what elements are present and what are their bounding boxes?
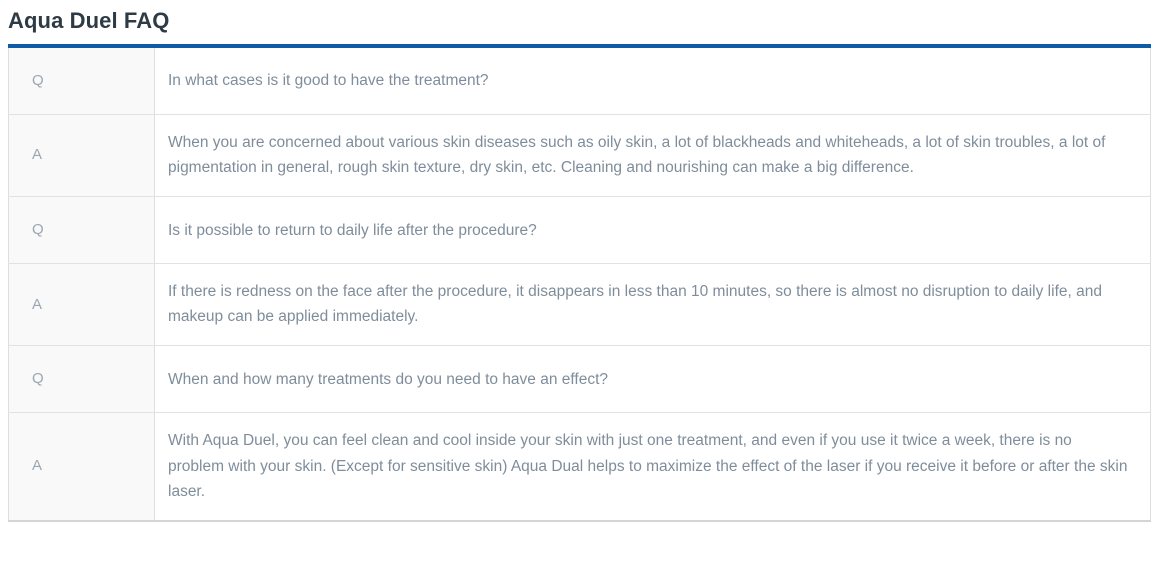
answer-label-cell: A xyxy=(9,115,155,197)
table-row: Q Is it possible to return to daily life… xyxy=(9,197,1151,264)
table-row: A If there is redness on the face after … xyxy=(9,264,1151,346)
question-label: Q xyxy=(32,69,154,93)
table-row: A When you are concerned about various s… xyxy=(9,115,1151,197)
question-label-cell: Q xyxy=(9,46,155,115)
question-text-cell: In what cases is it good to have the tre… xyxy=(155,46,1151,115)
question-text-cell: Is it possible to return to daily life a… xyxy=(155,197,1151,264)
table-row: Q In what cases is it good to have the t… xyxy=(9,46,1151,115)
answer-text: With Aqua Duel, you can feel clean and c… xyxy=(168,428,1128,503)
answer-text: When you are concerned about various ski… xyxy=(168,130,1128,180)
question-text-cell: When and how many treatments do you need… xyxy=(155,346,1151,413)
question-text: In what cases is it good to have the tre… xyxy=(168,68,1128,93)
faq-table-container: Q In what cases is it good to have the t… xyxy=(8,44,1151,522)
answer-text-cell: When you are concerned about various ski… xyxy=(155,115,1151,197)
answer-label: A xyxy=(32,143,154,167)
table-row: Q When and how many treatments do you ne… xyxy=(9,346,1151,413)
answer-text: If there is redness on the face after th… xyxy=(168,279,1128,329)
question-label-cell: Q xyxy=(9,197,155,264)
answer-text-cell: With Aqua Duel, you can feel clean and c… xyxy=(155,413,1151,521)
question-label: Q xyxy=(32,367,154,391)
table-row: A With Aqua Duel, you can feel clean and… xyxy=(9,413,1151,521)
answer-label: A xyxy=(32,293,154,317)
faq-table-body: Q In what cases is it good to have the t… xyxy=(9,46,1151,521)
answer-text-cell: If there is redness on the face after th… xyxy=(155,264,1151,346)
faq-page: Aqua Duel FAQ Q In what cases is it good… xyxy=(0,0,1165,578)
question-text: Is it possible to return to daily life a… xyxy=(168,218,1128,243)
answer-label: A xyxy=(32,454,154,478)
answer-label-cell: A xyxy=(9,264,155,346)
question-text: When and how many treatments do you need… xyxy=(168,367,1128,392)
page-title: Aqua Duel FAQ xyxy=(0,0,1165,40)
question-label-cell: Q xyxy=(9,346,155,413)
faq-table: Q In what cases is it good to have the t… xyxy=(8,44,1151,522)
question-label: Q xyxy=(32,218,154,242)
answer-label-cell: A xyxy=(9,413,155,521)
